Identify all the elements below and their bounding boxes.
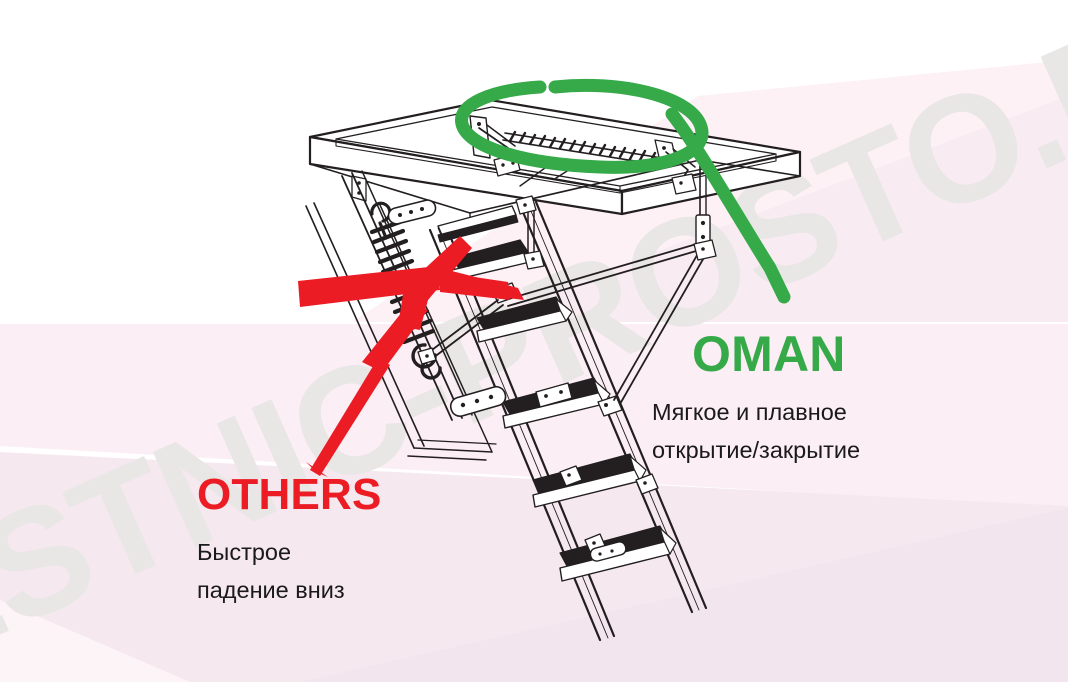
red-cross-arrow [298, 236, 524, 476]
comparison-infographic: LESTNIC-PROSTO.RU [0, 0, 1068, 682]
annotation-layer [0, 0, 1068, 682]
green-highlight-ellipse [462, 85, 784, 297]
